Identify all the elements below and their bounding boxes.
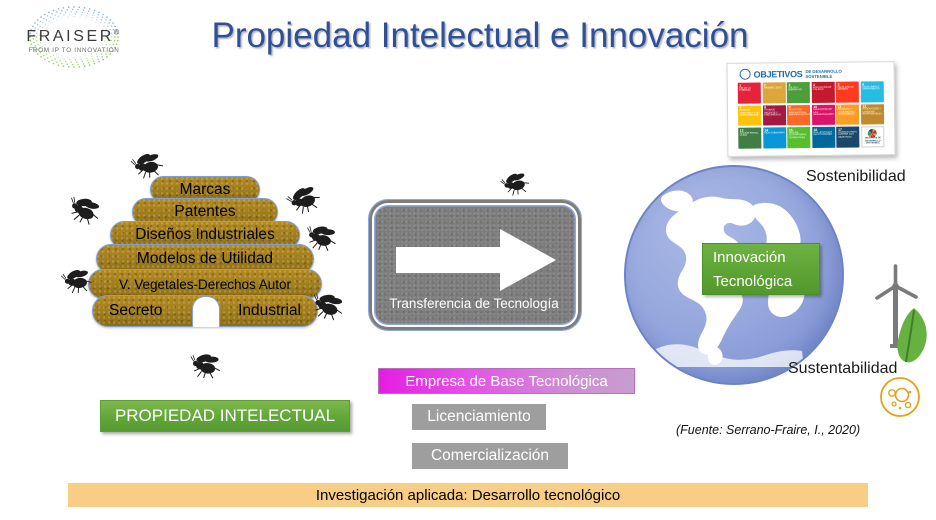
- bio-cell-icon: [878, 375, 922, 419]
- sdg-goal-8: 8TRABAJO DECENTE Y CRECIMIENTO: [763, 105, 786, 126]
- propiedad-intelectual-caption: PROPIEDAD INTELECTUAL: [100, 400, 350, 432]
- comercializacion-box: Comercialización: [412, 443, 568, 469]
- sdg-goal-11: 11CIUDADES Y COMUNIDADES SOSTENIBLES: [836, 104, 859, 125]
- slide-canvas: FRAISER® FROM IP TO INNOVATION Propiedad…: [0, 0, 936, 520]
- hive-label-secreto: Secreto: [109, 302, 162, 320]
- hive-label-industrial: Industrial: [238, 302, 301, 320]
- sdg-goal-grid: 1FIN DE LA POBREZA2HAMBRE CERO3SALUD Y B…: [738, 81, 885, 149]
- sdg-goal-10: 10REDUCCIÓN DE LAS DESIGUALDADES: [812, 104, 835, 125]
- sdg-goal-4: 4EDUCACIÓN DE CALIDAD: [812, 82, 835, 103]
- right-arrow-icon: [396, 229, 556, 291]
- sdg-title-main: OBJETIVOS: [754, 69, 803, 80]
- sdg-goal-13: 13ACCIÓN POR EL CLIMA: [738, 128, 761, 149]
- sdg-goal-6: 6AGUA LIMPIA Y SANEAMIENTO: [861, 81, 884, 102]
- sdg-goal-15: 15VIDA DE ECOSISTEMAS TERRESTRES: [787, 127, 810, 148]
- sdg-goal-7: 7ENERGÍA ASEQUIBLE Y NO CONTAMINANTE: [738, 105, 761, 126]
- sdg-goal-17: 17ALIANZAS PARA LOGRAR LOS OBJETIVOS: [837, 127, 860, 148]
- fraiser-logo: FRAISER® FROM IP TO INNOVATION: [12, 4, 136, 70]
- sdg-goal-12: 12PRODUCCIÓN Y CONSUMO RESPONSABLES: [861, 104, 884, 125]
- logo-tagline: FROM IP TO INNOVATION: [16, 47, 132, 54]
- sdg-poster-header: OBJETIVOS DE DESARROLLO SOSTENIBLE: [740, 67, 882, 79]
- bee-icon: [310, 292, 345, 319]
- empresa-base-tecnologica-box: Empresa de Base Tecnológica: [378, 368, 635, 394]
- bee-icon: [286, 186, 321, 213]
- bee-icon: [304, 224, 338, 250]
- sdg-emblem-cell: OBJETIVOS DE DESARROLLO SOSTENIBLE: [861, 126, 884, 147]
- bee-icon: [130, 152, 164, 178]
- sdg-goal-2: 2HAMBRE CERO: [762, 82, 785, 103]
- sdg-goal-16: 16PAZ, JUSTICIA E INSTITUCIONES: [812, 127, 835, 148]
- footer-banner: Investigación aplicada: Desarrollo tecno…: [68, 483, 868, 507]
- bee-icon: [188, 352, 222, 378]
- hive-entrance: [192, 296, 220, 327]
- bee-icon: [60, 268, 93, 293]
- licenciamiento-box: Licenciamiento: [412, 404, 546, 430]
- sdg-title-sub: DE DESARROLLO SOSTENIBLE: [805, 68, 841, 78]
- page-title: Propiedad Intelectual e Innovación: [180, 16, 780, 56]
- un-emblem-icon: [740, 69, 751, 80]
- sdg-goal-1: 1FIN DE LA POBREZA: [738, 83, 761, 104]
- sdg-goal-9: 9INDUSTRIA, INNOVACIÓN E INFRAESTRUCTURA: [787, 105, 810, 126]
- sdg-goal-3: 3SALUD Y BIENESTAR: [787, 82, 810, 103]
- sdg-goal-14: 14VIDA SUBMARINA: [763, 127, 786, 148]
- transferencia-label: Transferencia de Tecnología: [368, 296, 580, 311]
- bee-icon: [500, 172, 530, 195]
- innovacion-line2: Tecnológica: [713, 270, 819, 294]
- sostenibilidad-label: Sostenibilidad: [806, 168, 906, 186]
- innovacion-tecnologica-badge: Innovación Tecnológica: [702, 243, 820, 295]
- logo-wordmark: FRAISER®: [18, 28, 130, 46]
- sdg-goal-5: 5IGUALDAD DE GÉNERO: [836, 81, 859, 102]
- leaf-icon: [894, 306, 932, 366]
- innovacion-line1: Innovación: [713, 246, 819, 270]
- bee-icon: [66, 196, 102, 223]
- sdg-poster: OBJETIVOS DE DESARROLLO SOSTENIBLE 1FIN …: [727, 61, 896, 157]
- source-citation: (Fuente: Serrano-Fraire, I., 2020): [676, 423, 860, 437]
